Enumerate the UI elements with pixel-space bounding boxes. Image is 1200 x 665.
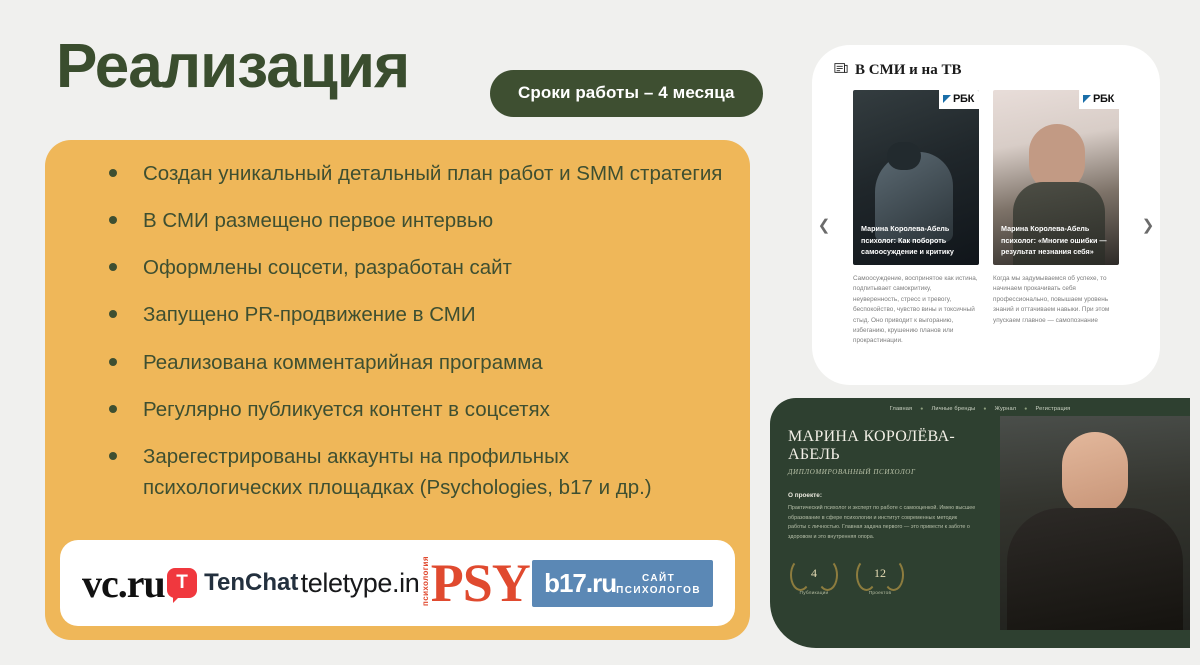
status-badge: Сроки работы – 4 месяца [490, 70, 763, 117]
website-person-role: ДИПЛОМИРОВАННЫЙ ПСИХОЛОГ [788, 468, 1000, 476]
award-number: 4 [811, 566, 817, 581]
media-coverage-card: В СМИ и на ТВ ❮ ❯ РБК Марина Королева-Аб… [812, 45, 1160, 385]
website-hero: МАРИНА КОРОЛЁВА-АБЕЛЬ ДИПЛОМИРОВАННЫЙ ПС… [770, 416, 1190, 630]
laurel-left-icon [790, 559, 811, 591]
nav-separator: ● [983, 406, 986, 412]
partner-logos-strip: vc.ru T TenChat teletype.in психология P… [60, 540, 735, 626]
media-card-title: В СМИ и на ТВ [855, 62, 961, 79]
bullet-dot-icon [109, 216, 117, 224]
list-item: Создан уникальный детальный план работ и… [105, 158, 732, 189]
article-thumbnail: РБК Марина Королева-Абель психолог: «Мно… [993, 90, 1119, 265]
nav-item-brands[interactable]: Личные бренды [932, 406, 976, 412]
bullet-dot-icon [109, 358, 117, 366]
page-title: Реализация [56, 36, 409, 98]
website-nav: Главная ● Личные бренды ● Журнал ● Регис… [770, 398, 1190, 412]
carousel-prev-button[interactable]: ❮ [817, 218, 831, 233]
rbk-logo: РБК [1079, 90, 1119, 109]
website-hero-photo [1000, 416, 1190, 630]
nav-separator: ● [920, 406, 923, 412]
portrait-face [1062, 432, 1128, 514]
slide-root: Реализация Сроки работы – 4 месяца Созда… [0, 0, 1200, 665]
psychologies-logo: психология PSY [422, 560, 530, 606]
list-item-label: Зарегестрированы аккаунты на профильных … [143, 445, 652, 499]
list-item: Оформлены соцсети, разработан сайт [105, 252, 732, 283]
portrait-torso [1007, 508, 1183, 630]
list-item-label: В СМИ размещено первое интервью [143, 209, 493, 232]
laurel-right-icon [817, 559, 838, 591]
nav-item-journal[interactable]: Журнал [995, 406, 1017, 412]
achievements-panel: Создан уникальный детальный план работ и… [45, 140, 750, 640]
rbk-triangle-icon [1083, 95, 1091, 103]
article-thumbnail: РБК Марина Королева-Абель психолог: Как … [853, 90, 979, 265]
b17-name: b17 [544, 568, 586, 598]
nav-item-home[interactable]: Главная [890, 406, 913, 412]
list-item-label: Запущено PR-продвижение в СМИ [143, 303, 476, 326]
tenchat-bubble-icon: T [167, 568, 197, 598]
website-about-text: Практический психолог и эксперт по работ… [788, 504, 976, 542]
nav-separator: ● [1024, 406, 1027, 412]
psy-label: PSY [431, 561, 530, 606]
media-card-header: В СМИ и на ТВ [812, 45, 1160, 80]
rbk-triangle-icon [943, 95, 951, 103]
vcru-logo: vc.ru [82, 560, 165, 607]
achievements-list: Создан уникальный детальный план работ и… [105, 158, 732, 519]
article-carousel: ❮ ❯ РБК Марина Королева-Абель психолог: … [812, 90, 1160, 347]
teletype-logo: teletype.in [301, 568, 420, 599]
list-item-label: Регулярно публикуется контент в соцсетях [143, 398, 550, 421]
newspaper-icon [834, 61, 848, 80]
bullet-dot-icon [109, 169, 117, 177]
article-body: Самоосуждение, воспринятое как истина, п… [853, 274, 979, 347]
b17-wordmark: b17.ru [544, 570, 616, 596]
award-label: Публикации [788, 591, 840, 596]
article-card[interactable]: РБК Марина Королева-Абель психолог: «Мно… [993, 90, 1119, 347]
b17-tagline-line2: ПСИХОЛОГОВ [616, 585, 701, 598]
list-item-label: Реализована комментарийная программа [143, 351, 543, 374]
card-corner-cut [770, 602, 816, 648]
article-card[interactable]: РБК Марина Королева-Абель психолог: Как … [853, 90, 979, 347]
list-item-label: Оформлены соцсети, разработан сайт [143, 256, 512, 279]
list-item: В СМИ размещено первое интервью [105, 205, 732, 236]
article-caption: Марина Королева-Абель психолог: Как побо… [861, 223, 973, 258]
b17-tagline-line1: САЙТ [616, 573, 701, 586]
b17-tld: .ru [586, 568, 616, 598]
bullet-dot-icon [109, 405, 117, 413]
laurel-wreath-icon: 12 [854, 556, 906, 590]
rbk-logo: РБК [939, 90, 979, 109]
list-item: Запущено PR-продвижение в СМИ [105, 299, 732, 330]
list-item: Зарегестрированы аккаунты на профильных … [105, 441, 732, 503]
award-badge: 4 Публикации [788, 556, 840, 596]
website-about-heading: О проекте: [788, 492, 1000, 499]
article-body: Когда мы задумываемся об успехе, то начи… [993, 274, 1119, 326]
b17-tagline: САЙТ ПСИХОЛОГОВ [616, 573, 701, 598]
psy-vertical-label: психология [422, 560, 430, 606]
website-hero-text: МАРИНА КОРОЛЁВА-АБЕЛЬ ДИПЛОМИРОВАННЫЙ ПС… [770, 416, 1000, 630]
website-awards: 4 Публикации 12 Проектов [788, 556, 1000, 596]
list-item: Реализована комментарийная программа [105, 347, 732, 378]
website-preview-card: Главная ● Личные бренды ● Журнал ● Регис… [770, 398, 1190, 648]
website-person-name: МАРИНА КОРОЛЁВА-АБЕЛЬ [788, 428, 1000, 464]
tenchat-logo: T TenChat [167, 568, 298, 598]
laurel-right-icon [883, 559, 904, 591]
list-item: Регулярно публикуется контент в соцсетях [105, 394, 732, 425]
carousel-next-button[interactable]: ❯ [1141, 218, 1155, 233]
b17-logo: b17.ru САЙТ ПСИХОЛОГОВ [532, 560, 713, 607]
rbk-label: РБК [1093, 93, 1114, 105]
list-item-label: Создан уникальный детальный план работ и… [143, 162, 722, 185]
tenchat-label: TenChat [204, 569, 298, 597]
award-badge: 12 Проектов [854, 556, 906, 596]
award-number: 12 [874, 566, 886, 581]
bullet-dot-icon [109, 310, 117, 318]
award-label: Проектов [854, 591, 906, 596]
bullet-dot-icon [109, 263, 117, 271]
rbk-label: РБК [953, 93, 974, 105]
nav-item-registration[interactable]: Регистрация [1036, 406, 1071, 412]
article-list: РБК Марина Королева-Абель психолог: Как … [832, 90, 1140, 347]
laurel-wreath-icon: 4 [788, 556, 840, 590]
article-caption: Марина Королева-Абель психолог: «Многие … [1001, 223, 1113, 258]
bullet-dot-icon [109, 452, 117, 460]
